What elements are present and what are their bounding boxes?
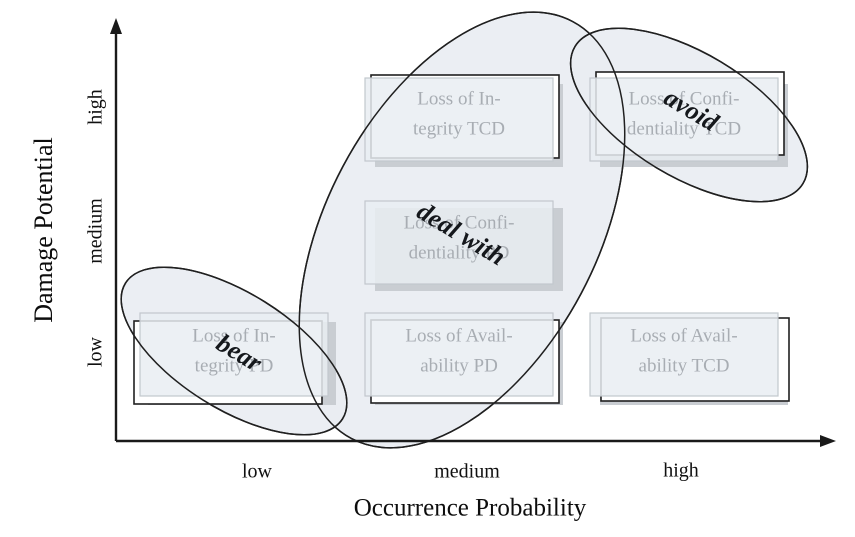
x-axis-title: Occurrence Probability xyxy=(354,495,587,522)
cell-label-line2: ability TCD xyxy=(639,355,730,376)
y-tick-label-medium: medium xyxy=(85,198,107,264)
risk-matrix-figure: Loss of In- tegrity TCD Loss of Confi- d… xyxy=(0,0,855,537)
y-axis-title: Damage Potential xyxy=(29,137,58,323)
cell-label-line1: Loss of Avail- xyxy=(405,325,512,346)
y-axis-arrow xyxy=(110,18,122,34)
cell-label-line1: Loss of In- xyxy=(417,88,500,109)
diagram-canvas: Loss of In- tegrity TCD Loss of Confi- d… xyxy=(0,0,855,537)
x-tick-label-high: high xyxy=(663,460,699,482)
x-axis-arrow xyxy=(820,435,836,447)
cell-label-line1: Loss of Avail- xyxy=(630,325,737,346)
cell-loss-of-integrity-tcd[interactable]: Loss of In- tegrity TCD xyxy=(365,75,563,167)
x-tick-label-low: low xyxy=(242,461,273,483)
y-tick-label-high: high xyxy=(85,89,107,125)
cell-label-line2: ability PD xyxy=(420,355,498,376)
cell-loss-of-availability-tcd[interactable]: Loss of Avail- ability TCD xyxy=(590,313,789,405)
cell-loss-of-availability-pd[interactable]: Loss of Avail- ability PD xyxy=(365,313,563,405)
cell-label-line2: tegrity TCD xyxy=(413,118,505,139)
x-tick-label-medium: medium xyxy=(434,461,500,483)
y-tick-label-low: low xyxy=(85,336,107,367)
